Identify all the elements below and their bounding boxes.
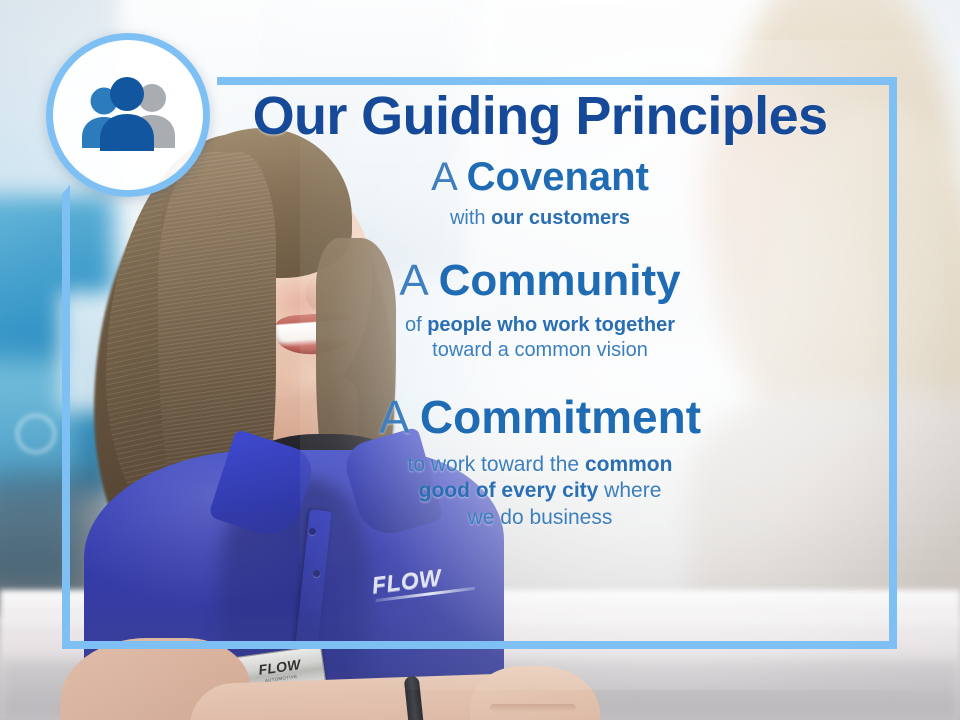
principle-title: A Commitment bbox=[200, 392, 880, 444]
principle-keyword: Community bbox=[439, 256, 681, 305]
principle-subtext: with our customers bbox=[200, 206, 880, 232]
principle-article: A bbox=[379, 391, 407, 443]
subtext-run-bold: common bbox=[585, 453, 673, 476]
principle-title: A Covenant bbox=[200, 155, 880, 200]
subtext-run: where bbox=[598, 479, 661, 502]
principle-article: A bbox=[399, 256, 426, 305]
vehicle-brand-roundel-icon bbox=[16, 414, 56, 454]
polo-button bbox=[313, 570, 320, 577]
copy-block: Our Guiding Principles A Covenant with o… bbox=[200, 88, 880, 532]
subtext-run: to work toward the bbox=[408, 453, 585, 476]
principle-community: A Community of people who work together … bbox=[200, 256, 880, 364]
subtext-run: we do business bbox=[468, 506, 613, 529]
principle-subtext: of people who work together toward a com… bbox=[200, 313, 880, 364]
guiding-principles-banner: FLOW FLOW AUTOMOTIVE bbox=[0, 0, 960, 720]
principle-commitment: A Commitment to work toward the common g… bbox=[200, 392, 880, 532]
principle-title: A Community bbox=[200, 256, 880, 305]
principle-covenant: A Covenant with our customers bbox=[200, 155, 880, 231]
subtext-run-bold: good of every city bbox=[419, 479, 599, 502]
subtext-run: of bbox=[405, 314, 427, 336]
page-title: Our Guiding Principles bbox=[200, 88, 880, 145]
subtext-run-bold: our customers bbox=[491, 207, 630, 229]
subtext-run: toward a common vision bbox=[432, 339, 648, 361]
principle-article: A bbox=[431, 155, 455, 199]
subtext-run: with bbox=[450, 207, 491, 229]
people-group-icon bbox=[76, 76, 180, 154]
principle-keyword: Commitment bbox=[420, 391, 701, 443]
finger-crease bbox=[490, 704, 576, 712]
people-badge bbox=[46, 33, 210, 197]
subtext-run-bold: people who work together bbox=[427, 314, 675, 336]
principle-keyword: Covenant bbox=[467, 155, 649, 199]
principle-subtext: to work toward the common good of every … bbox=[200, 452, 880, 533]
